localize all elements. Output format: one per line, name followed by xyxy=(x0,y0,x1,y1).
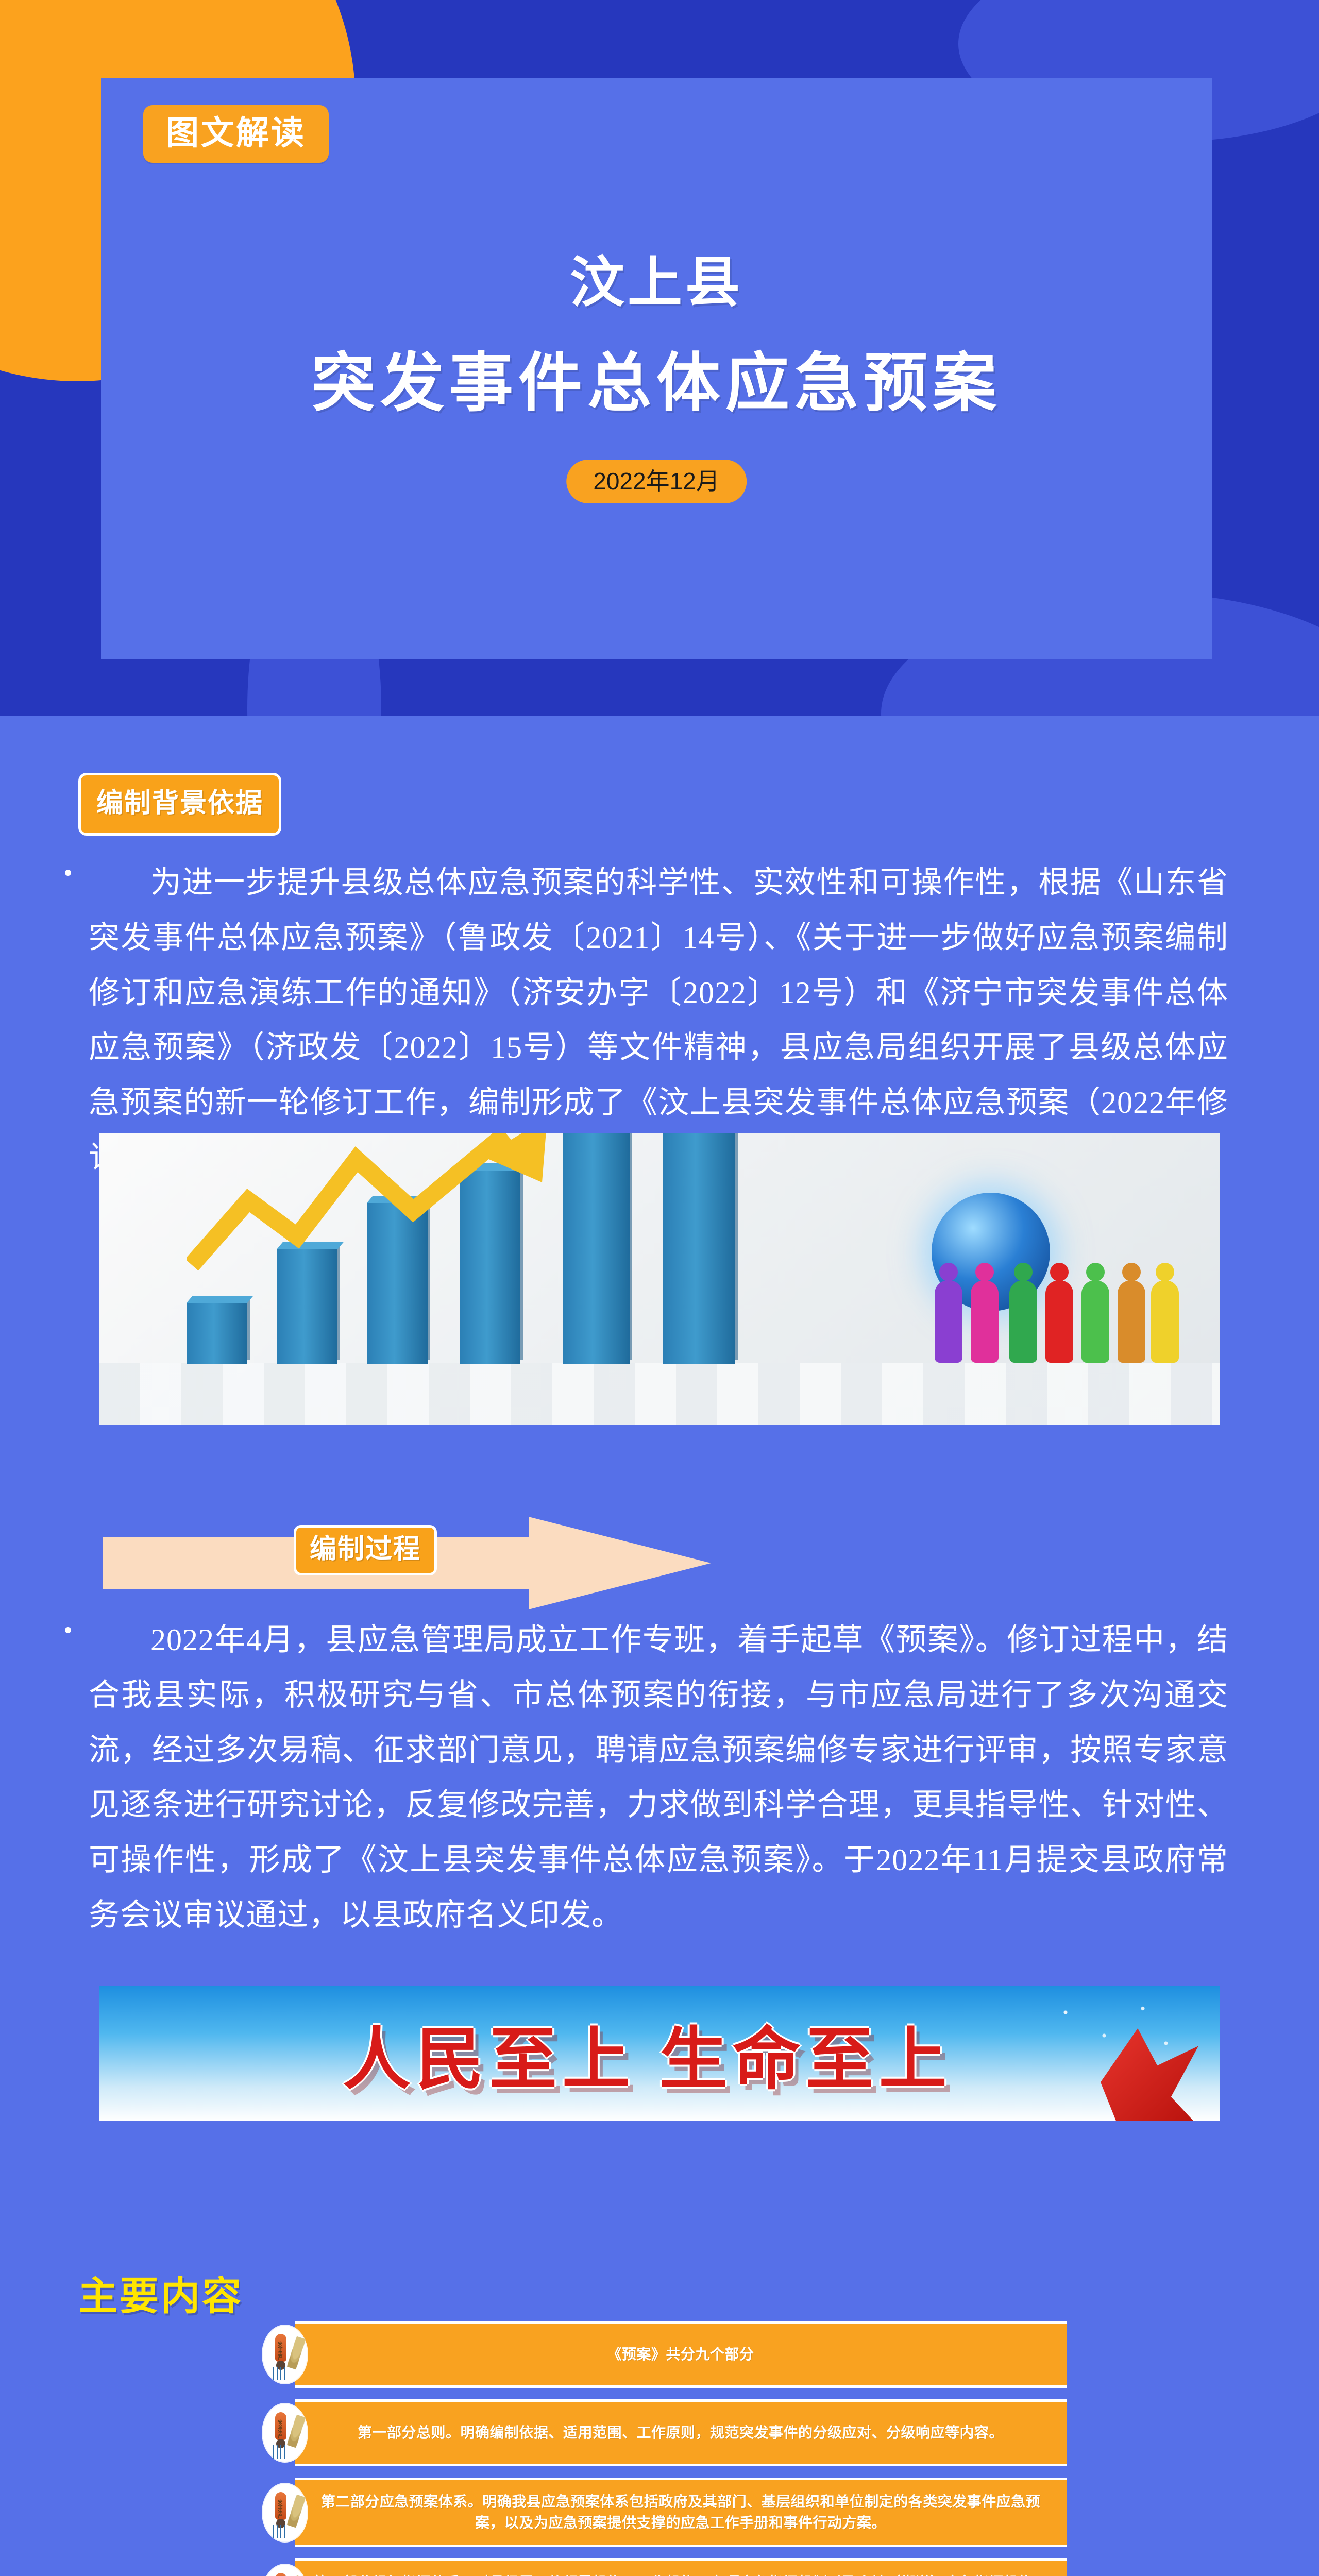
slogan-text: 人民至上 生命至上 xyxy=(343,2005,952,2103)
badge-icon-text: 安全生产 xyxy=(277,2499,282,2518)
person-figure-lightgreen xyxy=(1081,1280,1109,1363)
date-badge: 2022年12月 xyxy=(566,460,747,503)
header-band: 图文解读 汶上县 突发事件总体应急预案 2022年12月 xyxy=(0,0,1319,716)
list-item-text: 第二部分应急预案体系。明确我县应急预案体系包括政府及其部门、基层组织和单位制定的… xyxy=(295,2478,1067,2547)
wheat-icon xyxy=(284,2335,309,2370)
chart-bar-6 xyxy=(663,1133,735,1364)
rays-icon xyxy=(272,2367,290,2380)
paragraph-compilation-process: 2022年4月，县应急管理局成立工作专班，着手起草《预案》。修订过程中，结合我县… xyxy=(89,1613,1228,1943)
illustration-growth-chart xyxy=(99,1133,1220,1425)
person-figure-purple xyxy=(935,1280,962,1363)
heading-main-content: 主要内容 xyxy=(78,2264,243,2321)
list-item[interactable]: 安全生产 第一部分总则。明确编制依据、适用范围、工作原则，规范突发事件的分级应对… xyxy=(263,2399,1067,2466)
process-arrow-banner: 编制过程 xyxy=(103,1517,711,1609)
bullet-dot xyxy=(65,870,71,876)
badge-graphic-interpretation: 图文解读 xyxy=(143,105,329,163)
chart-floor xyxy=(99,1363,1220,1425)
list-item-text: 第一部分总则。明确编制依据、适用范围、工作原则，规范突发事件的分级应对、分级响应… xyxy=(295,2399,1067,2466)
infographic-page: 图文解读 汶上县 突发事件总体应急预案 2022年12月 编制背景依据 为进一步… xyxy=(0,0,1319,2576)
header-panel: 图文解读 汶上县 突发事件总体应急预案 2022年12月 xyxy=(101,78,1212,659)
wheat-icon xyxy=(284,2493,309,2528)
badge-icon-text: 安全生产 xyxy=(277,2341,282,2360)
rays-icon xyxy=(272,2445,290,2459)
section-tag-compilation-process: 编制过程 xyxy=(294,1525,437,1575)
badge-icon-text: 安全生产 xyxy=(277,2419,282,2438)
sparkle-decoration xyxy=(1035,1989,1189,2066)
list-item-text: 《预案》共分九个部分 xyxy=(295,2321,1067,2388)
page-title-line1: 汶上县 xyxy=(101,238,1212,317)
person-figure-pink xyxy=(971,1280,999,1363)
safety-production-badge-icon: 安全生产 xyxy=(263,2326,307,2383)
section-tag-background-basis: 编制背景依据 xyxy=(78,773,281,836)
list-item-text: 第三部分组织指挥体系。对县级层面的领导机构、工作机构、专项应急指挥机制以及乡镇（… xyxy=(295,2558,1067,2576)
list-item[interactable]: 安全生产 第二部分应急预案体系。明确我县应急预案体系包括政府及其部门、基层组织和… xyxy=(263,2478,1067,2547)
illustration-slogan-banner: 人民至上 生命至上 xyxy=(99,1986,1220,2121)
safety-production-badge-icon: 安全生产 xyxy=(263,2484,307,2541)
person-figure-yellow xyxy=(1151,1280,1179,1363)
paragraph-text: 2022年4月，县应急管理局成立工作专班，着手起草《预案》。修订过程中，结合我县… xyxy=(89,1623,1228,1932)
page-title-line2: 突发事件总体应急预案 xyxy=(101,331,1212,423)
person-figure-red xyxy=(1045,1280,1073,1363)
person-figure-orange xyxy=(1118,1280,1145,1363)
list-item[interactable]: 安全生产 《预案》共分九个部分 xyxy=(263,2321,1067,2388)
person-figure-green xyxy=(1009,1280,1037,1363)
safety-production-badge-icon: 安全生产 xyxy=(263,2404,307,2462)
list-item[interactable]: 安全生产 第三部分组织指挥体系。对县级层面的领导机构、工作机构、专项应急指挥机制… xyxy=(263,2558,1067,2576)
paragraph-text: 为进一步提升县级总体应急预案的科学性、实效性和可操作性，根据《山东省突发事件总体… xyxy=(89,866,1228,1175)
main-content-list: 安全生产 《预案》共分九个部分 安全生产 第一部分总则。明确编制依据、适用范围、… xyxy=(263,2321,1067,2576)
chart-bar-1 xyxy=(187,1303,247,1364)
lantern-icon xyxy=(275,2573,286,2576)
rays-icon xyxy=(272,2525,290,2538)
bullet-dot xyxy=(65,1627,71,1633)
upward-trend-arrow-icon xyxy=(187,1133,640,1275)
wheat-icon xyxy=(284,2414,309,2449)
